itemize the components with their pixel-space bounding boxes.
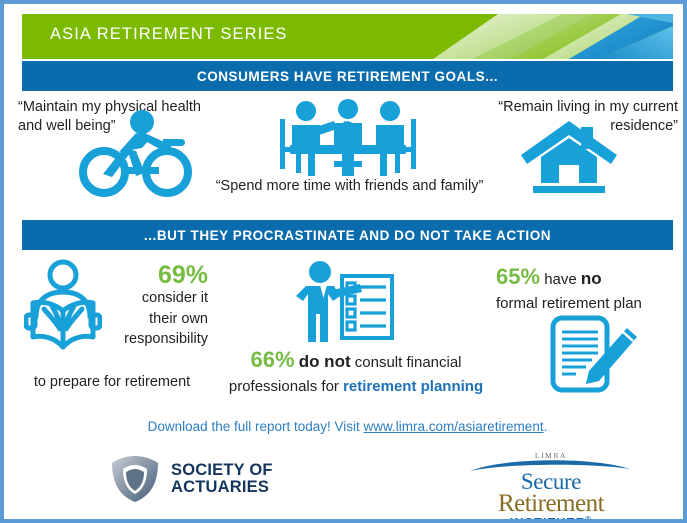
- stat-line-2: their own: [149, 311, 208, 327]
- infographic-canvas: ASIA RETIREMENT SERIES CONSUMERS HAVE RE…: [4, 4, 683, 519]
- stat-no-plan-text: 65% have no formal retirement plan: [496, 262, 682, 314]
- goal-quote-family: “Spend more time with friends and family…: [212, 177, 487, 196]
- stat-formal-plan: formal retirement plan: [496, 295, 642, 312]
- stat-consult-financial: consult financial: [355, 354, 462, 371]
- soa-wordmark: SOCIETY OF ACTUARIES: [171, 462, 273, 496]
- soa-line-1: SOCIETY OF: [171, 462, 273, 479]
- stat-do-not: do not: [299, 352, 351, 371]
- cta-prefix: Download the full report today! Visit: [148, 419, 364, 434]
- stat-have: have: [544, 271, 577, 288]
- report-link[interactable]: www.limra.com/asiaretirement: [364, 419, 544, 434]
- cta-suffix: .: [544, 419, 548, 434]
- document-with-pen-icon: [549, 314, 641, 394]
- stat-percent-65: 65%: [496, 264, 540, 289]
- house-icon: [519, 119, 619, 197]
- limra-institute-text: INSTITUTE: [510, 517, 585, 519]
- download-cta: Download the full report today! Visit ww…: [4, 419, 683, 434]
- stat-responsibility-text: 69% consider it their own responsibility: [92, 262, 208, 350]
- stat-line-3: responsibility: [124, 331, 208, 347]
- bicycle-icon: [79, 109, 194, 199]
- stat-percent-69: 69%: [92, 262, 208, 288]
- page-title: ASIA RETIREMENT SERIES: [50, 25, 288, 44]
- man-with-checklist-icon: [294, 260, 402, 342]
- header-ribbon-graphic: [393, 14, 673, 59]
- limra-retirement-word: Retirement: [466, 492, 636, 515]
- header-bar: ASIA RETIREMENT SERIES: [22, 14, 673, 59]
- banner-consumers-goals: CONSUMERS HAVE RETIREMENT GOALS...: [22, 61, 673, 91]
- stat-no: no: [581, 269, 602, 288]
- limra-institute-word: INSTITUTE®: [466, 515, 636, 519]
- stat-advisors-text: 66% do not consult financial professiona…: [216, 344, 496, 398]
- limra-trademark: ®: [585, 515, 592, 519]
- limra-sri-logo: LIMRA Secure Retirement INSTITUTE®: [466, 451, 636, 519]
- stat-line-1: consider it: [142, 290, 208, 306]
- person-reading-book-icon: [24, 259, 102, 359]
- banner-procrastinate: ...BUT THEY PROCRASTINATE AND DO NOT TAK…: [22, 220, 673, 250]
- infographic-frame: ASIA RETIREMENT SERIES CONSUMERS HAVE RE…: [0, 0, 687, 523]
- soa-line-2: ACTUARIES: [171, 479, 273, 496]
- stat-retirement-planning: retirement planning: [343, 378, 483, 395]
- stat-percent-66: 66%: [250, 347, 294, 372]
- shield-icon: [109, 454, 161, 504]
- society-of-actuaries-logo: SOCIETY OF ACTUARIES: [109, 454, 273, 504]
- limra-secure-word: Secure: [466, 471, 636, 492]
- stat-professionals-for: professionals for: [229, 378, 339, 395]
- stat-line-4: to prepare for retirement: [14, 374, 210, 390]
- people-at-table-icon: [272, 99, 424, 181]
